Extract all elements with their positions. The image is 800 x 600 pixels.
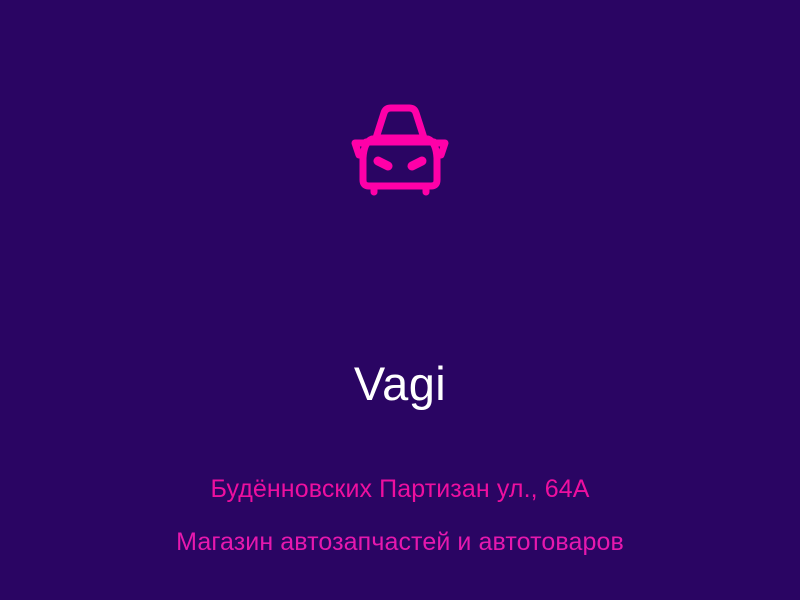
business-card: Vagi Будённовских Партизан ул., 64А Мага… [0,0,800,600]
car-front-icon [350,102,450,198]
business-title: Vagi [0,356,800,412]
business-address: Будённовских Партизан ул., 64А [0,470,800,508]
business-meta: Будённовских Партизан ул., 64А Магазин а… [0,470,800,561]
logo-container [0,100,800,200]
business-category: Магазин автозапчастей и автотоваров [0,523,800,561]
